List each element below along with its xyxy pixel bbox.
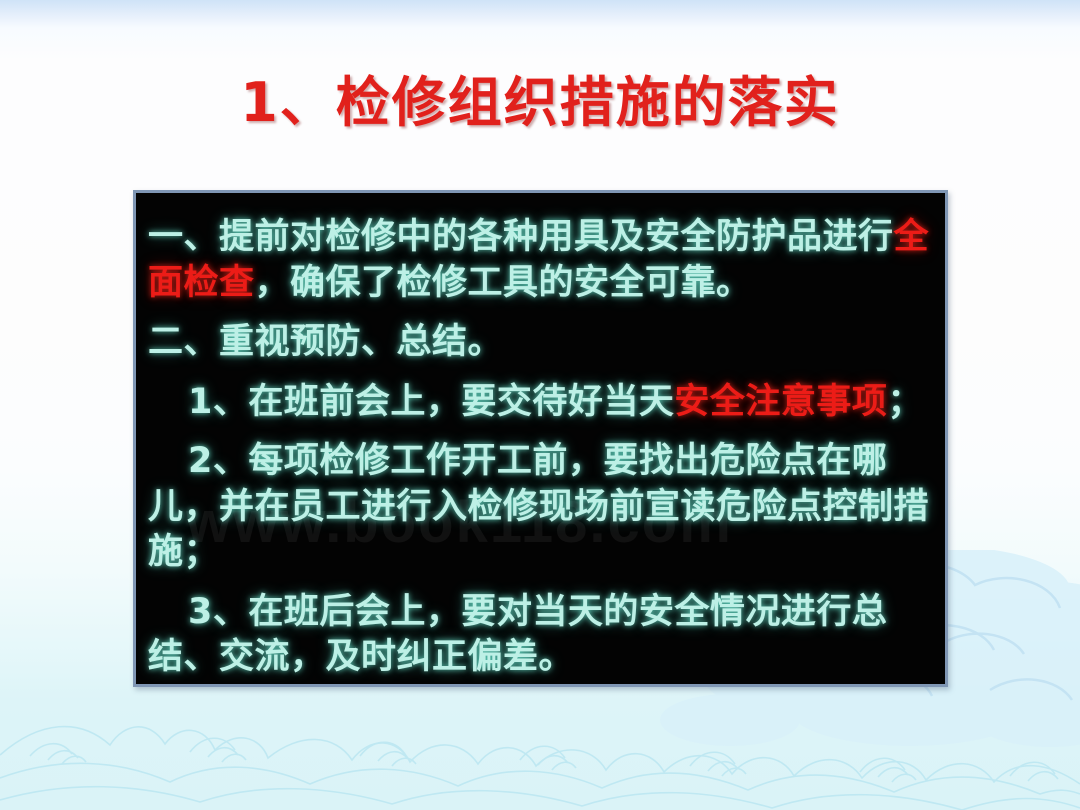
paragraph-run-item-1-0: 1、在班前会上，要交待好当天 [188,382,674,422]
slide-canvas: 1、检修组织措施的落实 www.book118.com 一、提前对检修中的各种用… [0,0,1080,810]
paragraph-run-item-2-0: 2、每项检修工作开工前，要找出危险点在哪儿，并在员工进行入检修现场前宣读危险点控… [148,441,929,572]
panel-paragraph-item-1: 1、在班前会上，要交待好当天安全注意事项； [148,380,931,426]
panel-paragraph-item-er: 二、重视预防、总结。 [148,320,931,366]
slide-title: 1、检修组织措施的落实 [0,58,1080,137]
panel-paragraph-item-2: 2、每项检修工作开工前，要找出危险点在哪儿，并在员工进行入检修现场前宣读危险点控… [148,439,931,576]
paragraph-run-item-yi-2: ，确保了检修工具的安全可靠。 [255,263,752,303]
panel-paragraph-item-yi: 一、提前对检修中的各种用具及安全防护品进行全面检查，确保了检修工具的安全可靠。 [148,215,931,306]
panel-paragraph-item-3: 3、在班后会上，要对当天的安全情况进行总结、交流，及时纠正偏差。 [148,590,931,681]
panel-text-container: 一、提前对检修中的各种用具及安全防护品进行全面检查，确保了检修工具的安全可靠。二… [136,193,945,681]
paragraph-run-item-er-0: 二、重视预防、总结。 [148,322,503,362]
paragraph-run-item-1-1-emphasis: 安全注意事项 [674,382,887,422]
paragraph-run-item-yi-0: 一、提前对检修中的各种用具及安全防护品进行 [148,217,894,257]
paragraph-run-item-3-0: 3、在班后会上，要对当天的安全情况进行总结、交流，及时纠正偏差。 [148,592,887,678]
paragraph-run-item-1-2: ； [887,382,923,422]
content-panel: www.book118.com 一、提前对检修中的各种用具及安全防护品进行全面检… [133,190,948,687]
